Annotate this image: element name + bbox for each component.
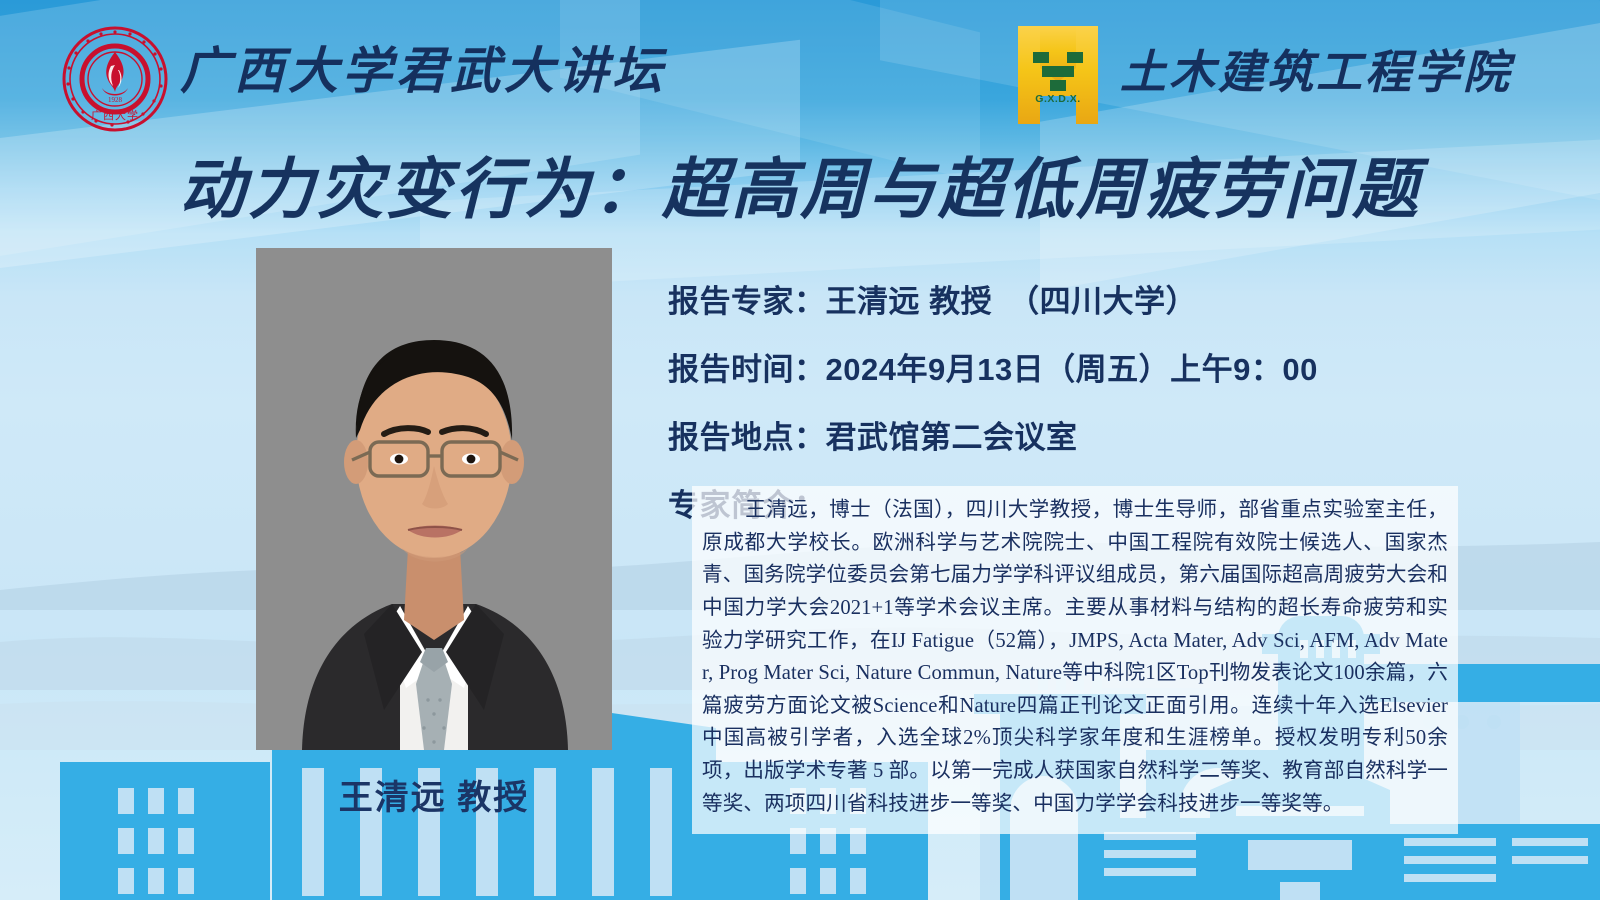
- svg-text:广西大学: 广西大学: [91, 108, 139, 122]
- info-time-line: 报告时间：2024年9月13日（周五）上午9：00: [668, 344, 1488, 389]
- poster-header: 1928 广西大学 广西大学君武大讲坛: [0, 0, 1600, 125]
- speaker-bio-panel: 王清远，博士（法国），四川大学教授，博士生导师，部省重点实验室主任，原成都大学校…: [692, 486, 1458, 834]
- page-title: 动力灾变行为：超高周与超低周疲劳问题: [0, 136, 1600, 232]
- info-speaker-line: 报告专家：王清远 教授 （四川大学）: [668, 276, 1488, 321]
- svg-text:1928: 1928: [108, 96, 123, 104]
- poster-canvas: 1928 广西大学 广西大学君武大讲坛: [0, 0, 1600, 900]
- speaker-portrait-photo: [256, 248, 612, 750]
- svg-text:G.X.D.X.: G.X.D.X.: [1035, 93, 1080, 105]
- speaker-bio-text: 王清远，博士（法国），四川大学教授，博士生导师，部省重点实验室主任，原成都大学校…: [702, 494, 1448, 820]
- portrait-caption: 王清远 教授: [256, 770, 612, 819]
- guangxi-university-seal-icon: 1928 广西大学: [62, 26, 168, 132]
- header-title-right: 土木建筑工程学院: [1120, 36, 1512, 102]
- civil-engineering-college-logo-icon: G.X.D.X.: [1012, 24, 1104, 126]
- header-title-left: 广西大学君武大讲坛: [180, 31, 666, 103]
- info-venue-line: 报告地点：君武馆第二会议室: [668, 412, 1488, 457]
